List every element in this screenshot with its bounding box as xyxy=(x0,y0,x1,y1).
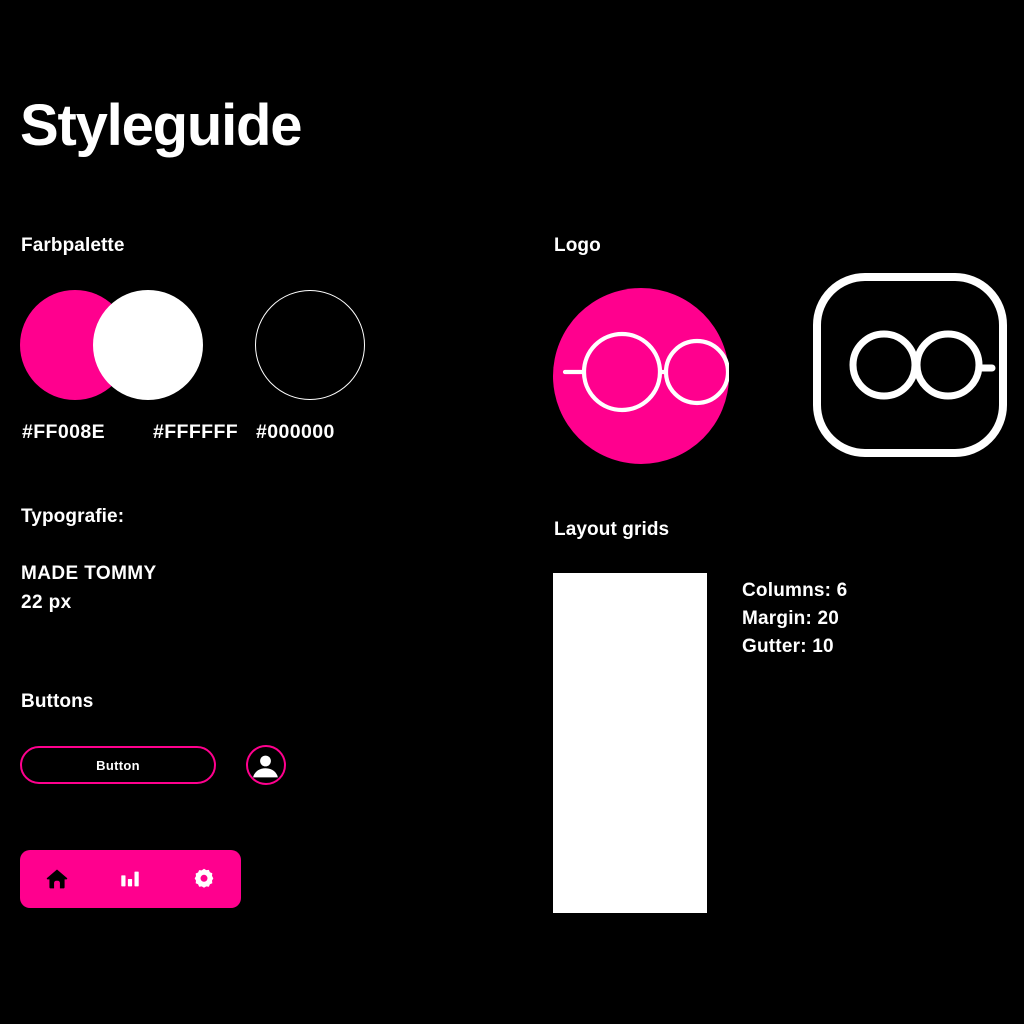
layout-grid-preview xyxy=(553,573,707,913)
section-heading-typografie: Typografie: xyxy=(21,506,124,528)
nav-item-home[interactable] xyxy=(34,856,80,902)
bar-chart-icon xyxy=(119,868,141,890)
color-label-white: #FFFFFF xyxy=(153,421,238,444)
spec-columns: Columns: 6 xyxy=(742,577,847,605)
section-heading-logo: Logo xyxy=(554,235,601,257)
color-swatch-white[interactable] xyxy=(93,290,203,400)
color-label-black: #000000 xyxy=(256,421,335,444)
glasses-on-pink-circle-icon xyxy=(553,288,729,464)
typography-font-size: 22 px xyxy=(21,589,157,618)
logo-mark-rounded-square[interactable] xyxy=(812,272,1008,458)
section-heading-farbpalette: Farbpalette xyxy=(21,235,125,257)
styleguide-page: Styleguide Farbpalette #FF008E #FFFFFF #… xyxy=(0,0,1024,1024)
primary-pill-button[interactable]: Button xyxy=(20,746,216,784)
color-swatch-black[interactable] xyxy=(255,290,365,400)
nav-item-stats[interactable] xyxy=(107,856,153,902)
section-heading-layout-grids: Layout grids xyxy=(554,519,669,541)
section-heading-buttons: Buttons xyxy=(21,691,93,713)
color-palette: #FF008E #FFFFFF #000000 xyxy=(20,290,370,460)
avatar-icon-button[interactable] xyxy=(246,745,286,785)
typography-font-name: MADE TOMMY xyxy=(21,560,157,589)
home-icon xyxy=(44,866,70,892)
spec-gutter: Gutter: 10 xyxy=(742,633,847,661)
user-avatar-icon xyxy=(248,748,283,783)
typography-sample: MADE TOMMY 22 px xyxy=(21,560,157,617)
bottom-navigation-bar xyxy=(20,850,241,908)
spec-margin: Margin: 20 xyxy=(742,605,847,633)
nav-item-settings[interactable] xyxy=(181,856,227,902)
page-title: Styleguide xyxy=(20,97,301,155)
glasses-in-rounded-square-icon xyxy=(812,272,1008,458)
layout-grid-specs: Columns: 6 Margin: 20 Gutter: 10 xyxy=(742,577,847,661)
logo-mark-circle[interactable] xyxy=(553,288,729,464)
gear-icon xyxy=(192,867,216,891)
color-label-pink: #FF008E xyxy=(22,421,105,444)
